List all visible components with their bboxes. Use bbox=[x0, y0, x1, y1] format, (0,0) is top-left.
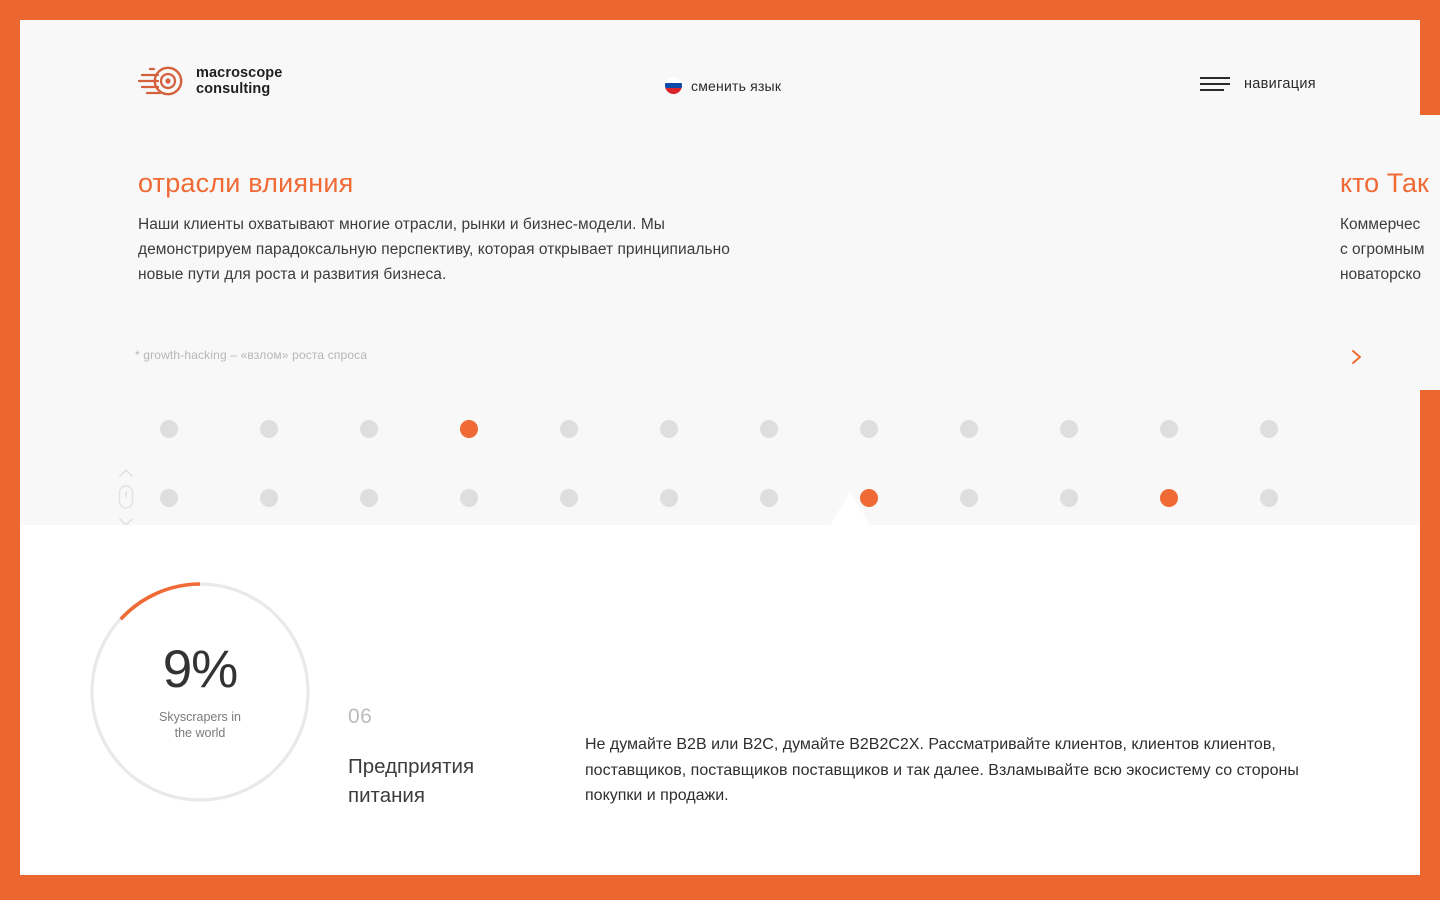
chevron-right-icon[interactable] bbox=[1342, 342, 1372, 372]
page-title: отрасли влияния bbox=[138, 168, 758, 199]
item-title-line-1: Предприятия bbox=[348, 752, 558, 781]
brand-line-2: consulting bbox=[196, 81, 282, 97]
dot-item[interactable] bbox=[560, 489, 578, 507]
dot-item[interactable] bbox=[160, 489, 178, 507]
gauge-caption: Skyscrapers in the world bbox=[159, 709, 241, 741]
dot-item[interactable] bbox=[660, 489, 678, 507]
brand-line-1: macroscope bbox=[196, 65, 282, 81]
gauge-center-content: 9% Skyscrapers in the world bbox=[88, 580, 312, 804]
next-section-teaser[interactable]: кто Так Коммерчес с огромным новаторско bbox=[1340, 168, 1440, 287]
chevron-up-icon bbox=[120, 470, 132, 476]
dot-row-2 bbox=[20, 489, 1440, 507]
gauge-caption-line-1: Skyscrapers in bbox=[159, 709, 241, 725]
hamburger-menu-icon bbox=[1200, 77, 1230, 91]
page-root: macroscope consulting сменить язык навиг… bbox=[0, 0, 1440, 900]
gauge-caption-line-2: the world bbox=[159, 725, 241, 741]
dot-item[interactable] bbox=[960, 489, 978, 507]
dot-item-active[interactable] bbox=[1160, 489, 1178, 507]
teaser-line-3: новаторско bbox=[1340, 262, 1440, 287]
brand-wordmark: macroscope consulting bbox=[196, 65, 282, 97]
intro-block: отрасли влияния Наши клиенты охватывают … bbox=[138, 168, 758, 287]
dot-item[interactable] bbox=[960, 420, 978, 438]
site-header: macroscope consulting сменить язык навиг… bbox=[20, 20, 1440, 145]
dot-item[interactable] bbox=[760, 489, 778, 507]
dot-item[interactable] bbox=[260, 420, 278, 438]
detail-card: 9% Skyscrapers in the world 06 Предприят… bbox=[20, 525, 1420, 875]
intro-description: Наши клиенты охватывают многие отрасли, … bbox=[138, 212, 758, 287]
item-description: Не думайте B2B или B2C, думайте B2B2C2X.… bbox=[585, 732, 1355, 809]
dot-item[interactable] bbox=[1260, 489, 1278, 507]
dot-item[interactable] bbox=[560, 420, 578, 438]
navigation-toggle[interactable]: навигация bbox=[1200, 76, 1316, 92]
dot-item[interactable] bbox=[460, 489, 478, 507]
active-dot-pointer bbox=[810, 492, 890, 525]
dot-item-active[interactable] bbox=[460, 420, 478, 438]
dot-item[interactable] bbox=[360, 420, 378, 438]
language-switcher-label: сменить язык bbox=[691, 78, 781, 94]
item-title-line-2: питания bbox=[348, 781, 558, 810]
dot-item[interactable] bbox=[860, 420, 878, 438]
dot-item[interactable] bbox=[660, 420, 678, 438]
dot-item[interactable] bbox=[1260, 420, 1278, 438]
russian-flag-icon bbox=[665, 77, 682, 94]
teaser-line-2: с огромным bbox=[1340, 237, 1440, 262]
item-meta: 06 Предприятия питания bbox=[348, 705, 558, 810]
teaser-title: кто Так bbox=[1340, 168, 1440, 199]
dot-item[interactable] bbox=[360, 489, 378, 507]
top-panel: macroscope consulting сменить язык навиг… bbox=[20, 20, 1440, 525]
dot-item[interactable] bbox=[160, 420, 178, 438]
language-switcher[interactable]: сменить язык bbox=[665, 77, 781, 94]
item-index: 06 bbox=[348, 705, 558, 729]
dot-item[interactable] bbox=[1060, 489, 1078, 507]
dot-item[interactable] bbox=[260, 489, 278, 507]
item-title: Предприятия питания bbox=[348, 752, 558, 810]
macroscope-target-icon bbox=[138, 64, 184, 98]
percentage-gauge: 9% Skyscrapers in the world bbox=[88, 580, 312, 804]
dot-item[interactable] bbox=[760, 420, 778, 438]
dot-item[interactable] bbox=[1060, 420, 1078, 438]
gauge-value: 9% bbox=[163, 643, 238, 696]
footnote-text: * growth-hacking – «взлом» роста спроса bbox=[135, 348, 367, 362]
dot-item[interactable] bbox=[1160, 420, 1178, 438]
teaser-line-1: Коммерчес bbox=[1340, 212, 1440, 237]
brand-logo[interactable]: macroscope consulting bbox=[138, 64, 282, 98]
dot-row-1 bbox=[20, 420, 1440, 438]
navigation-toggle-label: навигация bbox=[1244, 76, 1316, 92]
industry-dot-matrix bbox=[20, 388, 1440, 528]
